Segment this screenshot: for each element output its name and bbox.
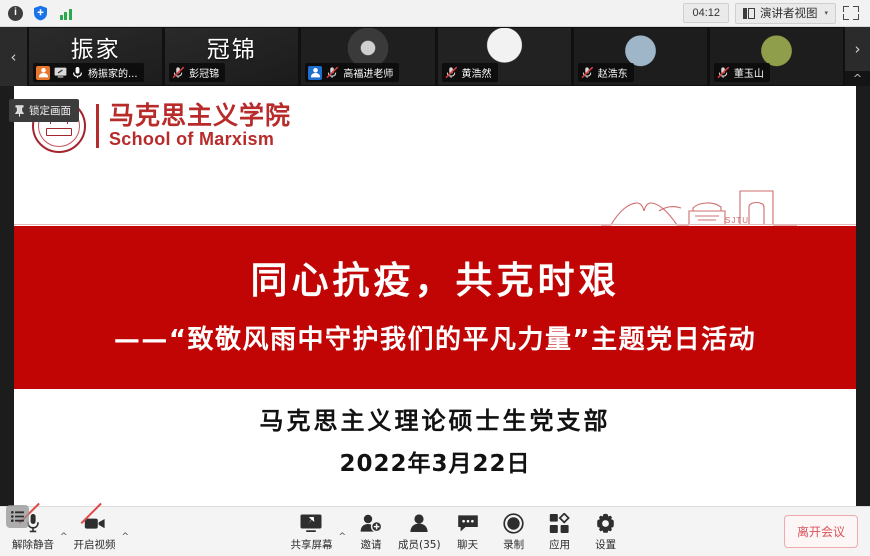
microphone-muted-icon (717, 66, 730, 79)
signal-strength-icon[interactable] (56, 4, 75, 23)
participants-icon (408, 512, 430, 535)
participant-name: 赵浩东 (598, 65, 628, 80)
avatar (308, 66, 322, 80)
participant-footer: 杨振家的... (33, 63, 144, 82)
apps-icon (549, 512, 570, 535)
chat-label: 聊天 (457, 537, 478, 552)
apps-button[interactable]: 应用 (537, 512, 583, 552)
participant-footer: 董玉山 (714, 63, 770, 82)
unmute-label: 解除静音 (12, 537, 54, 552)
invite-label: 邀请 (361, 537, 382, 552)
slide-subtitle: ——“致敬风雨中守护我们的平凡力量”主题党日活动 (114, 319, 756, 356)
zoom-meeting-window: i 04:12 演讲者视图 ▾ (0, 0, 870, 556)
share-screen-icon (299, 512, 323, 535)
participant-tile[interactable]: 高福进老师 (301, 28, 434, 85)
video-muted-icon (84, 512, 106, 535)
participant-footer: 高福进老师 (305, 63, 399, 82)
chevron-down-icon: ▾ (824, 9, 828, 17)
lock-screen-tooltip[interactable]: 锁定画面 (9, 99, 79, 122)
participant-name: 高福进老师 (343, 65, 393, 80)
participant-tile[interactable]: 冠锦彭冠锦 (165, 28, 298, 85)
strip-prev-arrow[interactable]: ‹ (0, 27, 27, 86)
avatar (36, 66, 50, 80)
record-button[interactable]: 录制 (491, 512, 537, 552)
slide-footer-block: 马克思主义理论硕士生党支部 2022年3月22日 (14, 401, 856, 478)
participant-name: 董玉山 (734, 65, 764, 80)
strip-collapse-arrow[interactable]: ^ (845, 71, 870, 86)
campus-skyline-icon: SJTU (601, 181, 801, 226)
slide-organization: 马克思主义理论硕士生党支部 (14, 401, 856, 436)
video-options-caret[interactable]: ^ (120, 532, 132, 542)
microphone-muted-icon (326, 66, 339, 79)
share-screen-button[interactable]: 共享屏幕 (286, 512, 336, 552)
list-icon[interactable] (6, 505, 29, 528)
microphone-muted-icon (581, 66, 594, 79)
participant-footer: 彭冠锦 (169, 63, 225, 82)
shared-content-stage: 马克思主义学院 School of Marxism SJTU (0, 86, 870, 506)
logo-divider (96, 104, 99, 148)
top-bar-right-controls: 04:12 演讲者视图 ▾ (683, 0, 864, 27)
share-options-caret[interactable]: ^ (336, 532, 348, 542)
top-bar-left-icons: i (6, 4, 75, 23)
slide-date: 2022年3月22日 (14, 444, 856, 478)
participant-tile[interactable]: 赵浩东 (574, 28, 707, 85)
participant-name: 杨振家的... (88, 65, 138, 80)
invite-icon (359, 512, 383, 535)
participant-tiles: 振家杨振家的...冠锦彭冠锦高福进老师黄浩然赵浩东董玉山 (27, 27, 845, 86)
shield-icon-glyph (33, 5, 48, 21)
record-icon (503, 512, 524, 535)
signal-bars-glyph (60, 7, 72, 20)
participant-footer: 赵浩东 (578, 63, 634, 82)
pin-icon (15, 105, 24, 117)
settings-button[interactable]: 设置 (583, 512, 629, 552)
strip-right-controls: › ^ (845, 27, 870, 86)
settings-gear-icon (595, 512, 616, 535)
participant-name: 彭冠锦 (189, 65, 219, 80)
window-top-bar: i 04:12 演讲者视图 ▾ (0, 0, 870, 27)
speaker-view-button[interactable]: 演讲者视图 ▾ (735, 3, 836, 24)
slide-hairline-divider (14, 224, 856, 225)
participant-tile[interactable]: 黄浩然 (438, 28, 571, 85)
share-screen-label: 共享屏幕 (290, 537, 332, 552)
participant-tile[interactable]: 振家杨振家的... (29, 28, 162, 85)
speaker-view-label: 演讲者视图 (760, 5, 818, 21)
record-label: 录制 (503, 537, 524, 552)
logo-text-block: 马克思主义学院 School of Marxism (109, 102, 291, 149)
leave-meeting-button[interactable]: 离开会议 (784, 515, 858, 548)
lock-screen-label: 锁定画面 (29, 103, 71, 118)
info-icon-glyph: i (8, 6, 23, 21)
participant-tile[interactable]: 董玉山 (710, 28, 843, 85)
slide-title: 同心抗疫，共克时艰 (251, 259, 620, 303)
chat-icon (457, 512, 479, 535)
microphone-muted-icon (172, 66, 185, 79)
info-icon[interactable]: i (6, 4, 25, 23)
fullscreen-icon[interactable] (842, 4, 860, 22)
participant-big-name: 冠锦 (165, 30, 298, 64)
strip-next-arrow[interactable]: › (845, 27, 870, 71)
audio-options-caret[interactable]: ^ (58, 532, 70, 542)
apps-label: 应用 (549, 537, 570, 552)
microphone-icon (71, 66, 84, 79)
start-video-button[interactable]: 开启视频 (70, 512, 120, 552)
meeting-toolbar: 解除静音 ^ 开启视频 ^ (0, 506, 870, 556)
participants-button[interactable]: 成员(35) (394, 512, 445, 552)
shield-icon[interactable] (31, 4, 50, 23)
logo-text-cn: 马克思主义学院 (109, 102, 291, 130)
participant-name: 黄浩然 (462, 65, 492, 80)
layout-view-icon (743, 8, 755, 19)
logo-text-en: School of Marxism (109, 130, 291, 150)
settings-label: 设置 (595, 537, 616, 552)
invite-button[interactable]: 邀请 (348, 512, 394, 552)
participant-thumbnail-strip: ‹ 振家杨振家的...冠锦彭冠锦高福进老师黄浩然赵浩东董玉山 › ^ (0, 27, 870, 86)
presentation-slide: 马克思主义学院 School of Marxism SJTU (14, 86, 856, 506)
meeting-timer: 04:12 (683, 3, 729, 23)
participant-big-name: 振家 (29, 30, 162, 64)
participants-label: 成员(35) (398, 537, 441, 552)
screen-share-icon (54, 66, 67, 79)
microphone-muted-icon (445, 66, 458, 79)
chat-button[interactable]: 聊天 (445, 512, 491, 552)
start-video-label: 开启视频 (74, 537, 116, 552)
participant-footer: 黄浩然 (442, 63, 498, 82)
slide-red-banner: 同心抗疫，共克时艰 ——“致敬风雨中守护我们的平凡力量”主题党日活动 (14, 226, 856, 389)
